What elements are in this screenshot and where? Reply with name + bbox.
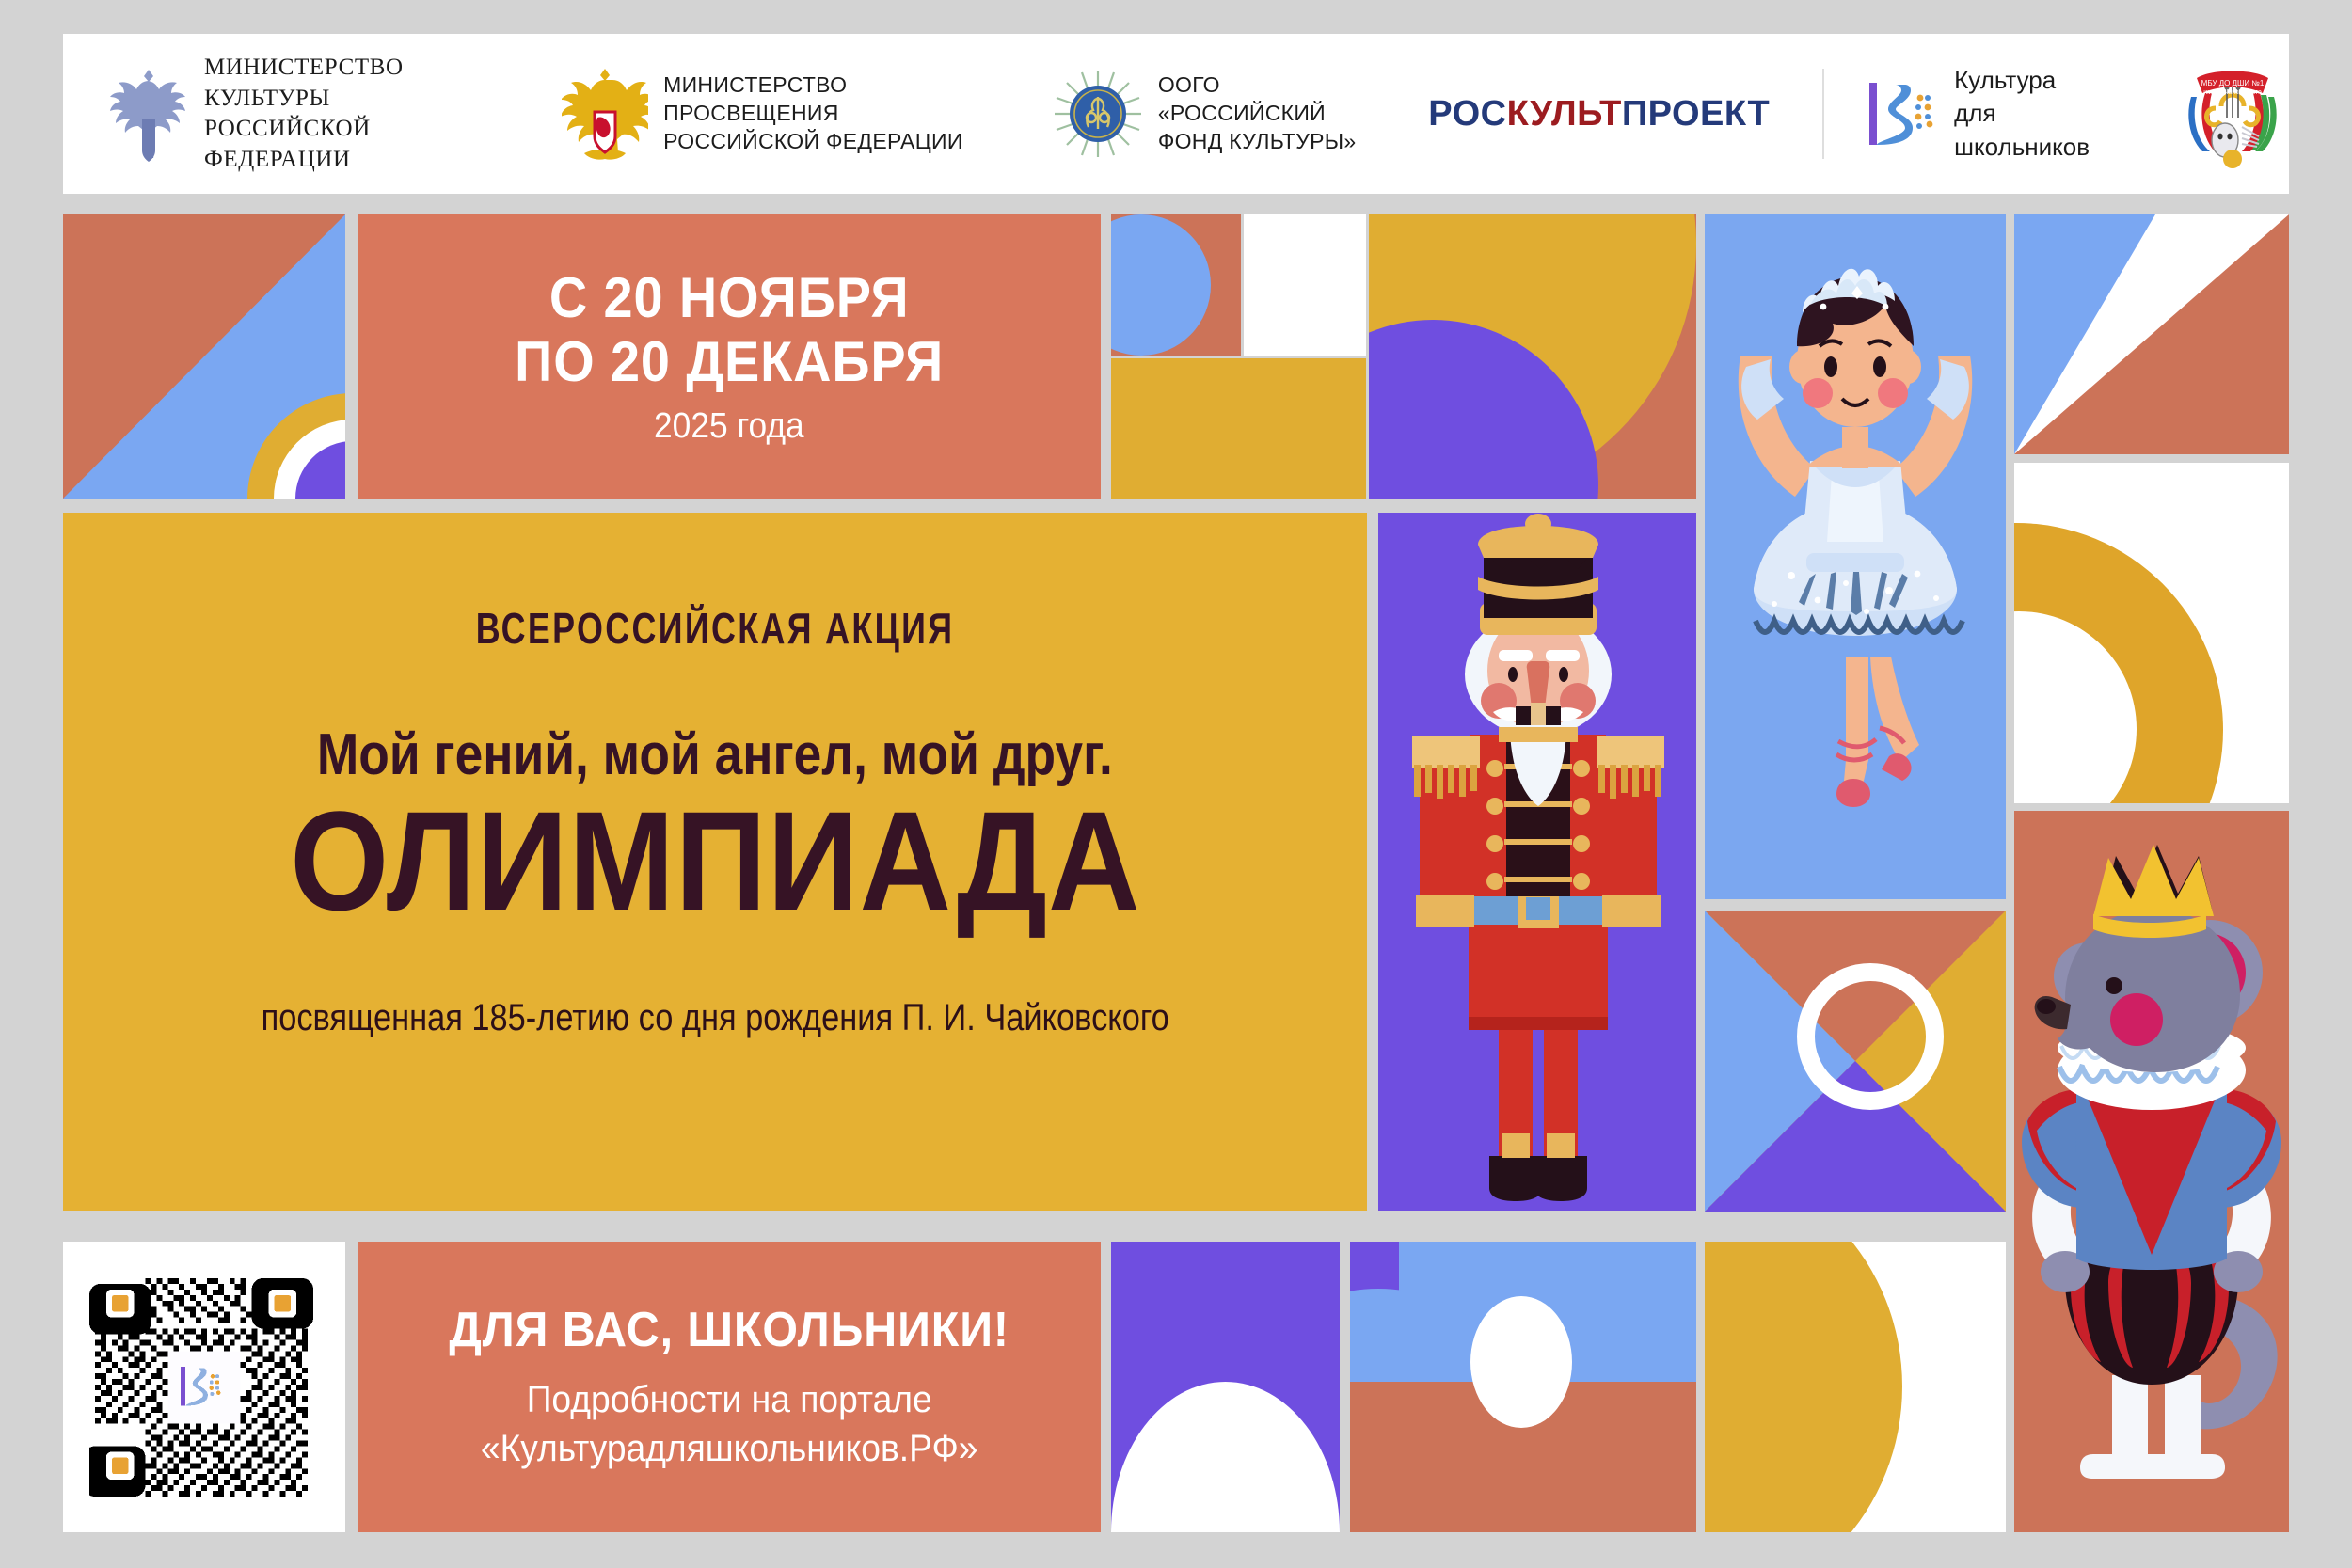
wordmark-part-1: РОС bbox=[1428, 94, 1506, 134]
logo-line-2: РОССИЙСКОЙ ФЕДЕРАЦИИ bbox=[204, 114, 513, 175]
decor-tile-white-square bbox=[1244, 214, 1366, 356]
logo-line-1: Культура bbox=[1954, 64, 2123, 97]
logo-music-school-emblem: МБУ ДО ДШИ №1 им. П. Чайковского bbox=[2176, 34, 2289, 194]
decor-tile-circle-blue bbox=[1111, 214, 1241, 356]
double-headed-eagle-gold-icon bbox=[562, 65, 648, 163]
logo-line-2: ФОНД КУЛЬТУРЫ» bbox=[1158, 128, 1375, 156]
decor-tile-gold-leaf bbox=[1705, 1242, 2006, 1532]
nutcracker-figure bbox=[1378, 513, 1696, 1211]
qr-code-panel[interactable] bbox=[63, 1242, 345, 1532]
logo-line-2: для школьников bbox=[1954, 97, 2123, 163]
illustration-tile-nutcracker bbox=[1378, 513, 1696, 1211]
date-from: С 20 НОЯБРЯ bbox=[515, 266, 944, 330]
decor-ring-white bbox=[1797, 963, 1944, 1110]
info-details: Подробности на портале «Культурадляшколь… bbox=[481, 1375, 978, 1473]
logo-line-1: МИНИСТЕРСТВО ПРОСВЕЩЕНИЯ bbox=[663, 71, 1004, 128]
poster-root: МИНИСТЕРСТВО КУЛЬТУРЫ РОССИЙСКОЙ ФЕДЕРАЦ… bbox=[0, 0, 2352, 1568]
logo-culture-for-schoolchildren-text: Культура для школьников bbox=[1954, 64, 2123, 163]
decor-circle-blue bbox=[1111, 214, 1211, 356]
svg-text:им. П. Чайковского: им. П. Чайковского bbox=[2203, 88, 2262, 96]
logo-line-1: МИНИСТЕРСТВО КУЛЬТУРЫ bbox=[204, 53, 513, 114]
logo-russian-culture-fund: ООГО «РОССИЙСКИЙ ФОНД КУЛЬТУРЫ» bbox=[1053, 34, 1375, 194]
roskultproekt-wordmark: РОСКУЛЬТПРОЕКТ bbox=[1428, 94, 1770, 135]
sponsor-logo-strip: МИНИСТЕРСТВО КУЛЬТУРЫ РОССИЙСКОЙ ФЕДЕРАЦ… bbox=[63, 34, 2289, 194]
logo-ministry-of-culture: МИНИСТЕРСТВО КУЛЬТУРЫ РОССИЙСКОЙ ФЕДЕРАЦ… bbox=[108, 34, 513, 194]
decor-tile-blue-terracotta-oval bbox=[1350, 1242, 1696, 1532]
decor-tile-purple-dome bbox=[1111, 1242, 1340, 1532]
decor-semicircle-white bbox=[1111, 1382, 1340, 1532]
logo-ministry-of-education: МИНИСТЕРСТВО ПРОСВЕЩЕНИЯ РОССИЙСКОЙ ФЕДЕ… bbox=[562, 34, 1004, 194]
decor-triangle-terracotta bbox=[2014, 214, 2289, 454]
kicker-text: ВСЕРОССИЙСКАЯ АКЦИЯ bbox=[476, 603, 955, 654]
decor-tile-rings-topleft bbox=[63, 214, 345, 499]
date-range: С 20 НОЯБРЯ ПО 20 ДЕКАБРЯ bbox=[515, 266, 944, 394]
lyre-masks-emblem-icon: МБУ ДО ДШИ №1 им. П. Чайковского bbox=[2176, 57, 2289, 170]
wordmark-part-2: КУЛЬТ bbox=[1507, 94, 1622, 134]
decor-leaf-gold bbox=[1705, 1242, 1902, 1532]
dedication-text: посвященная 185-летию со дня рождения П.… bbox=[261, 997, 1168, 1039]
decor-tile-triangles-ring bbox=[1705, 911, 2006, 1212]
info-line-1: Подробности на портале bbox=[481, 1375, 978, 1424]
svg-text:МБУ ДО ДШИ №1: МБУ ДО ДШИ №1 bbox=[2201, 79, 2265, 87]
qr-code[interactable] bbox=[89, 1273, 319, 1502]
info-panel: ДЛЯ ВАС, ШКОЛЬНИКИ! Подробности на порта… bbox=[358, 1242, 1101, 1532]
decor-triangle-terracotta bbox=[63, 214, 345, 499]
logo-line-2: РОССИЙСКОЙ ФЕДЕРАЦИИ bbox=[663, 128, 1004, 156]
wordmark-part-3: ПРОЕКТ bbox=[1622, 94, 1770, 134]
decor-tile-gold-ring bbox=[2014, 463, 2289, 803]
tagline-text: Мой гений, мой ангел, мой друг. bbox=[317, 721, 1113, 788]
ballerina-figure bbox=[1705, 214, 2006, 899]
logo-russian-culture-fund-text: ООГО «РОССИЙСКИЙ ФОНД КУЛЬТУРЫ» bbox=[1158, 71, 1375, 156]
logo-ministry-of-education-text: МИНИСТЕРСТВО ПРОСВЕЩЕНИЯ РОССИЙСКОЙ ФЕДЕ… bbox=[663, 71, 1004, 156]
logo-divider bbox=[1822, 69, 1824, 159]
kdsh-flag-icon bbox=[1862, 75, 1939, 152]
info-heading: ДЛЯ ВАС, ШКОЛЬНИКИ! bbox=[449, 1302, 1009, 1358]
logo-ministry-of-culture-text: МИНИСТЕРСТВО КУЛЬТУРЫ РОССИЙСКОЙ ФЕДЕРАЦ… bbox=[204, 53, 513, 175]
double-headed-eagle-blue-icon bbox=[108, 64, 189, 164]
logo-line-1: ООГО «РОССИЙСКИЙ bbox=[1158, 71, 1375, 128]
date-to: ПО 20 ДЕКАБРЯ bbox=[515, 330, 944, 394]
decor-tile-gold-band bbox=[1111, 358, 1366, 499]
page-title: ОЛИМПИАДА bbox=[290, 790, 1140, 931]
illustration-tile-mouse-king bbox=[2014, 811, 2289, 1532]
info-portal-name[interactable]: «Культурадляшкольников.РФ» bbox=[481, 1424, 978, 1473]
date-panel: С 20 НОЯБРЯ ПО 20 ДЕКАБРЯ 2025 года bbox=[358, 214, 1101, 499]
decor-tile-triangles-topright bbox=[2014, 214, 2289, 454]
date-year: 2025 года bbox=[654, 406, 804, 447]
mouse-king-figure bbox=[2014, 811, 2289, 1532]
starburst-medallion-icon bbox=[1053, 69, 1143, 159]
illustration-tile-ballerina bbox=[1705, 214, 2006, 899]
decor-tile-arcs-gold-purple bbox=[1369, 214, 1696, 499]
logo-culture-for-schoolchildren: Культура для школьников bbox=[1862, 34, 2123, 194]
logo-roskultproekt: РОСКУЛЬТПРОЕКТ bbox=[1428, 34, 1770, 194]
main-announcement-panel: ВСЕРОССИЙСКАЯ АКЦИЯ Мой гений, мой ангел… bbox=[63, 513, 1367, 1211]
decor-oval-white bbox=[1470, 1296, 1572, 1428]
